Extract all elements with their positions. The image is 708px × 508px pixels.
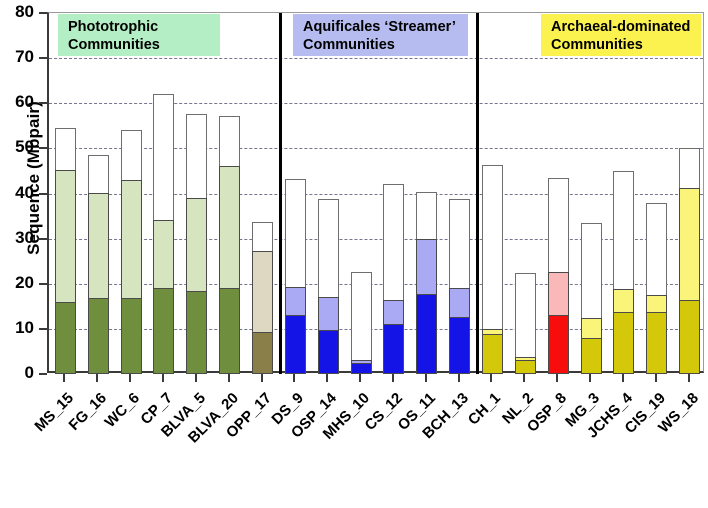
bar-segment-low [581,338,602,374]
group-banner-line2: Communities [68,37,220,55]
bar-segment-low [153,288,174,374]
bar-segment-low [383,324,404,374]
y-tick-20 [39,283,47,285]
group-banner-line2: Communities [303,37,468,55]
bar-OS_11[interactable] [416,13,437,374]
bar-MHS_10[interactable] [351,13,372,374]
x-tick-CH_1 [490,373,492,382]
x-tick-OS_11 [425,373,427,382]
group-banner-line2: Communities [551,37,701,55]
y-tick-label-80: 80 [0,3,34,20]
bar-MS_15[interactable] [55,13,76,374]
x-tick-BLVA_20 [228,373,230,382]
bar-CIS_19[interactable] [646,13,667,374]
bar-segment-low [416,294,437,374]
group-banner-line1: Phototrophic [68,19,220,37]
gridline-10 [49,329,703,330]
x-tick-WC_6 [129,373,131,382]
bar-BCH_13[interactable] [449,13,470,374]
x-tick-CS_12 [392,373,394,382]
bar-segment-low [515,360,536,374]
bar-segment-low [285,315,306,374]
bar-OSP_8[interactable] [548,13,569,374]
x-tick-CP_7 [162,373,164,382]
x-tick-OSP_8 [556,373,558,382]
bar-NL_2[interactable] [515,13,536,374]
group-banner-3: Archaeal-dominatedCommunities [541,14,701,56]
x-tick-OPP_17 [261,373,263,382]
y-tick-30 [39,238,47,240]
bar-segment-low [548,315,569,374]
y-tick-80 [39,12,47,14]
bar-BLVA_5[interactable] [186,13,207,374]
bar-JCHS_4[interactable] [613,13,634,374]
y-tick-label-0: 0 [0,364,34,381]
bar-segment-low [482,334,503,374]
group-banner-line1: Archaeal-dominated [551,19,701,37]
y-tick-label-50: 50 [0,138,34,155]
y-tick-40 [39,193,47,195]
bar-MG_3[interactable] [581,13,602,374]
x-tick-CIS_19 [655,373,657,382]
bar-CH_1[interactable] [482,13,503,374]
gridline-70 [49,58,703,59]
gridline-30 [49,239,703,240]
bar-WC_6[interactable] [121,13,142,374]
y-tick-label-40: 40 [0,184,34,201]
y-tick-label-30: 30 [0,229,34,246]
x-tick-MG_3 [589,373,591,382]
y-tick-label-20: 20 [0,274,34,291]
y-tick-10 [39,328,47,330]
group-banner-2: Aquificales ‘Streamer’Communities [293,14,468,56]
bar-segment-low [646,312,667,374]
bar-segment-low [318,330,339,374]
y-tick-70 [39,57,47,59]
group-banner-1: PhototrophicCommunities [58,14,220,56]
bar-CP_7[interactable] [153,13,174,374]
y-tick-50 [39,147,47,149]
x-tick-BCH_13 [458,373,460,382]
x-tick-OSP_14 [326,373,328,382]
bar-segment-low [252,332,273,374]
x-tick-MHS_10 [359,373,361,382]
bar-segment-low [186,291,207,374]
group-banner-line1: Aquificales ‘Streamer’ [303,19,468,37]
bar-CS_12[interactable] [383,13,404,374]
x-tick-JCHS_4 [622,373,624,382]
bar-segment-low [679,300,700,374]
gridline-60 [49,103,703,104]
gridline-20 [49,284,703,285]
y-tick-label-10: 10 [0,319,34,336]
bar-WS_18[interactable] [679,13,700,374]
x-tick-NL_2 [523,373,525,382]
bar-segment-low [88,298,109,374]
y-tick-label-70: 70 [0,48,34,65]
group-separator [279,13,282,374]
x-tick-DS_9 [293,373,295,382]
plot-area [47,12,704,373]
bar-segment-low [351,363,372,374]
bar-BLVA_20[interactable] [219,13,240,374]
bar-segment-low [613,312,634,374]
bar-segment-low [219,288,240,374]
bar-FG_16[interactable] [88,13,109,374]
bar-OSP_14[interactable] [318,13,339,374]
x-tick-WS_18 [688,373,690,382]
chart-root: Sequence (Mbpair) 01020304050607080 Phot… [0,0,708,454]
x-tick-BLVA_5 [195,373,197,382]
x-tick-FG_16 [96,373,98,382]
y-axis-title: Sequence (Mbpair) [24,48,44,308]
gridline-40 [49,194,703,195]
y-tick-label-60: 60 [0,93,34,110]
y-tick-0 [39,373,47,375]
gridline-50 [49,148,703,149]
bar-segment-low [449,317,470,374]
bar-OPP_17[interactable] [252,13,273,374]
x-tick-MS_15 [63,373,65,382]
y-tick-60 [39,102,47,104]
bar-segment-low [121,298,142,374]
bar-DS_9[interactable] [285,13,306,374]
group-separator [476,13,479,374]
bar-segment-low [55,302,76,374]
